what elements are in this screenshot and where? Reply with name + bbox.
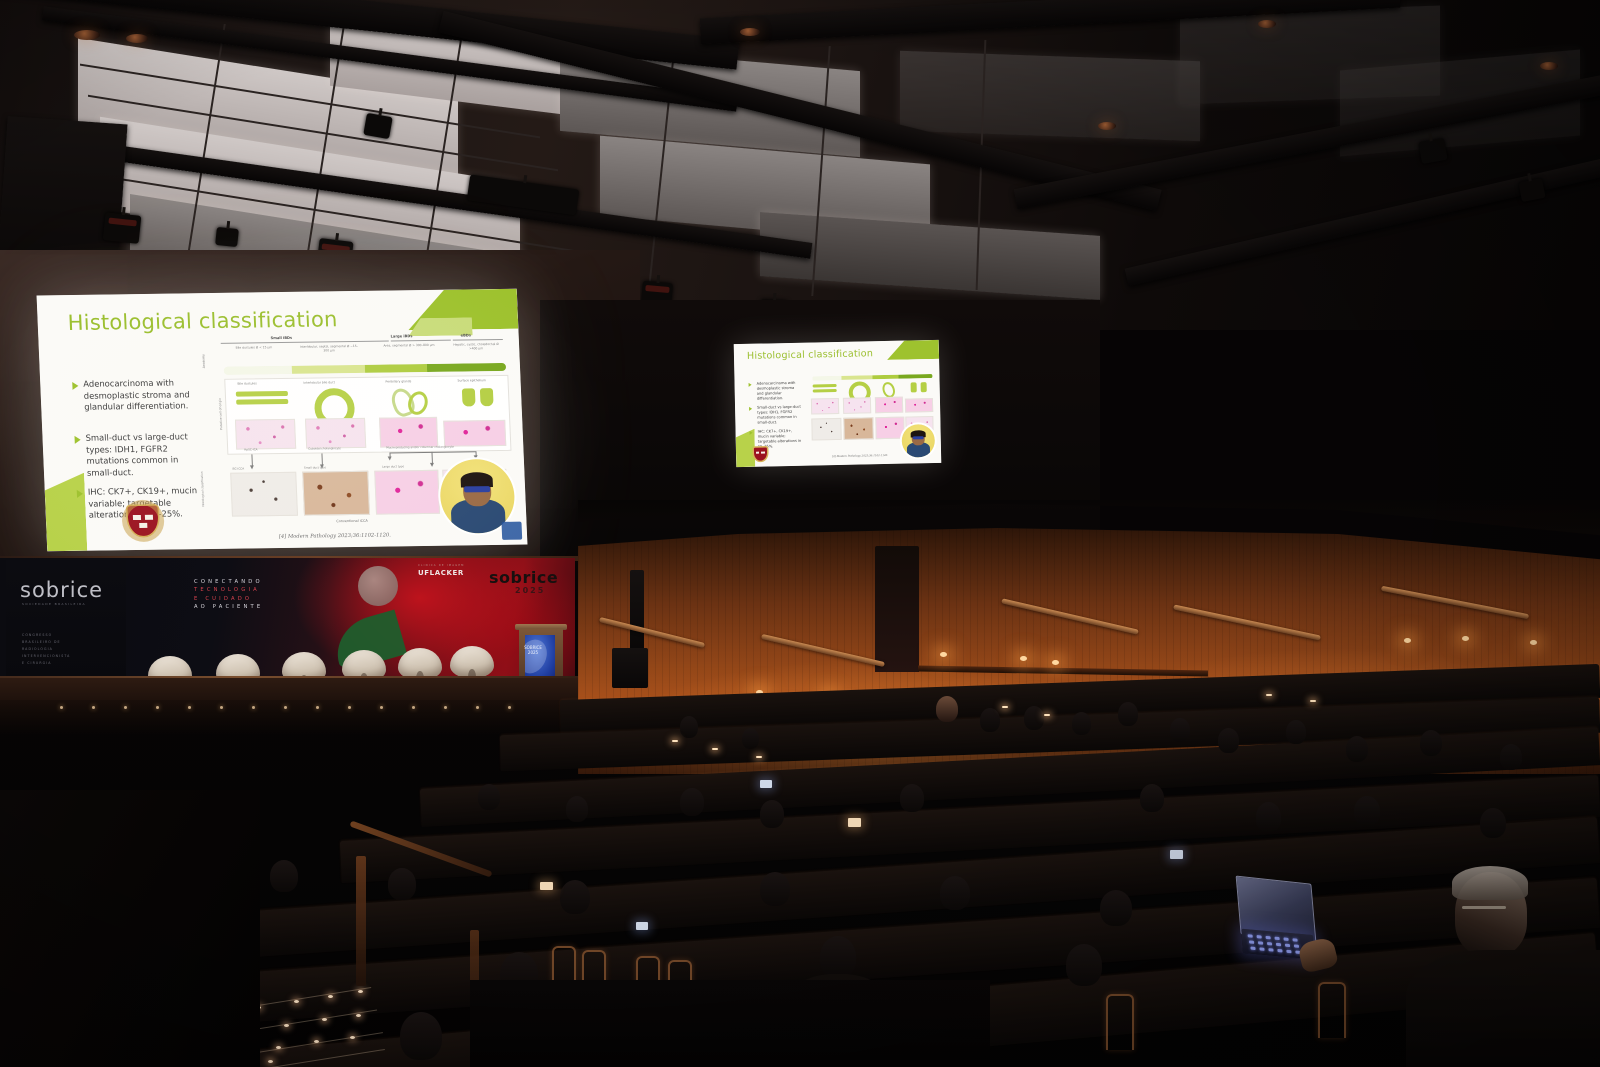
bullet-text: Adenocarcinoma with desmoplastic stroma … [83, 377, 193, 413]
figure-bottom-caption: Conventional iCCA [336, 519, 368, 523]
foreground-seating-silhouette [0, 790, 260, 1067]
audience-member [680, 788, 704, 816]
duct-gradient-bar [224, 366, 292, 375]
slide-title: Histological classification [67, 307, 338, 335]
stair-step-light [356, 1014, 361, 1017]
audience-member [1500, 744, 1522, 770]
audience-member [1140, 784, 1164, 812]
figure-origin-label: Peribiliary glands [385, 379, 411, 383]
classification-caption: iSC-iCCA [232, 467, 244, 471]
wall-speaker [630, 570, 644, 658]
micrograph-caption: Mucin-producing and/or columnar cholangi… [386, 445, 454, 450]
aisle-step-light [672, 740, 678, 742]
micrograph [230, 472, 298, 517]
attendee-phone [540, 882, 553, 890]
bullet-triangle-icon [74, 436, 80, 444]
stage-light-fixture [215, 227, 239, 247]
flow-arrow-icon [475, 451, 476, 456]
surface-epithelium-schematic [462, 388, 476, 406]
slide-bullet: Adenocarcinoma with desmoplastic stroma … [72, 377, 193, 413]
micrograph [374, 470, 440, 515]
audience-member [760, 800, 784, 828]
audience-member [1072, 712, 1091, 735]
bullet-text: Small-duct vs large-duct types: IDH1, FG… [85, 431, 198, 479]
attendee-phone [848, 818, 861, 827]
stage-light-fixture [1418, 138, 1447, 164]
figure-group-label: Small iBDs [270, 336, 292, 340]
banner-circle-graphic [358, 566, 398, 606]
slide-corner-accent [887, 340, 939, 360]
harvard-seal-ring [121, 500, 165, 543]
audience-member [1170, 718, 1190, 742]
slide-bullet: Small-duct vs large-duct types: IDH1, FG… [749, 405, 802, 426]
slide-footer-mark [501, 522, 522, 540]
attendee-phone [1170, 850, 1183, 859]
stair-step-light [294, 1000, 299, 1003]
stage-light-fixture [103, 212, 142, 244]
podium-display [525, 635, 555, 679]
stage-light-fixture [1518, 178, 1545, 202]
auditorium-photo: Histological classification Adenocarcino… [0, 0, 1600, 1067]
wall-speaker [612, 648, 648, 688]
micrograph [235, 419, 296, 450]
micrograph [443, 420, 506, 447]
figure-origin-label: Surface epithelium [457, 378, 486, 382]
stair-step-light [322, 1018, 327, 1021]
tagline-line: TECNOLOGIA [194, 586, 263, 594]
bullet-triangle-icon [72, 382, 78, 390]
wall-sconce-light [1404, 638, 1411, 643]
ceiling-downlight [74, 30, 100, 40]
stage-light-fixture [363, 113, 392, 139]
ceiling-downlight [1258, 20, 1276, 28]
row-handrail [1318, 982, 1346, 1038]
slide-secondary: Histological classification Adenocarcino… [734, 340, 942, 467]
audience-member [1346, 736, 1368, 762]
ceiling-panel [900, 51, 1200, 141]
ceiling-downlight [126, 34, 148, 43]
wall-sconce-light [1052, 660, 1059, 665]
figure-anatomy-cell: Area, segmental Ø > 300–800 µm [383, 344, 435, 349]
ductule-schematic [236, 391, 288, 397]
main-projection-screen: Histological classification Adenocarcino… [37, 289, 528, 551]
audience-member [936, 696, 958, 722]
duct-gradient-bar [812, 376, 841, 381]
stair-step-light [358, 990, 363, 993]
presenter-video-inset [901, 424, 935, 458]
aisle-step-light [1266, 694, 1272, 696]
audience-member [1354, 796, 1380, 826]
ductule-schematic [813, 384, 837, 388]
banner-logo-left: sobrice [20, 578, 103, 602]
stair-step-light [350, 1036, 355, 1039]
audience-member [900, 784, 924, 812]
aisle-step-light [1044, 714, 1050, 716]
exit-doorway [875, 546, 919, 672]
slide-main: Histological classification Adenocarcino… [37, 289, 528, 551]
micrograph-caption: Cuboidal cholangiocyte [308, 446, 341, 450]
tagline-line: E CUIDADO [194, 595, 263, 603]
figure-anatomy-cell: Bile ductules Ø < 15 µm [231, 346, 277, 350]
slide-title-secondary: Histological classification [747, 348, 873, 362]
audience-member [1420, 730, 1442, 756]
audience-member [760, 872, 790, 906]
audience-member [980, 708, 1000, 732]
micrograph [811, 418, 841, 441]
slide-bullet: Adenocarcinoma with desmoplastic stroma … [749, 381, 801, 402]
audience-member [560, 880, 590, 914]
flow-arrow-icon [321, 453, 323, 465]
audience-member [388, 868, 416, 900]
figure-row-label: Anatomy [201, 354, 206, 368]
aisle-step-light [1002, 706, 1008, 708]
shield-book [761, 451, 764, 453]
surface-epithelium-schematic [480, 388, 494, 406]
audience-member [742, 728, 759, 749]
foreground-attendee-glasses [1462, 906, 1506, 909]
flow-arrow-icon [431, 452, 433, 464]
ceiling-downlight [740, 28, 760, 36]
banner-tagline: CONECTANDO TECNOLOGIA E CUIDADO AO PACIE… [194, 578, 263, 612]
wall-sconce-light [1462, 636, 1469, 641]
stair-step-light [284, 1024, 289, 1027]
stair-step-light [314, 1040, 319, 1043]
duct-gradient-bar [291, 365, 365, 374]
stair-step-light [328, 995, 333, 998]
bullet-triangle-icon [749, 407, 752, 411]
audience-member [680, 716, 698, 738]
harvard-shield-logo [754, 447, 767, 460]
stair-step-light [268, 1060, 273, 1063]
classification-caption: Large duct type [382, 464, 404, 468]
aisle-step-light [756, 756, 762, 758]
micrograph [302, 471, 370, 516]
foreground-attendee-torso [1406, 950, 1600, 1067]
micrograph [305, 418, 366, 449]
light-lens [645, 285, 669, 292]
figure-row-label: Histological classification [200, 471, 205, 506]
duct-gradient-bar [872, 375, 898, 380]
sponsor-logo-uflacker: UFLACKER [418, 569, 464, 577]
audience-member [270, 860, 298, 892]
slide-citation: [4] Modern Pathology 2023;36:1102-1120. [279, 532, 391, 540]
wall-sconce-light [940, 652, 947, 657]
slide-citation-secondary: [4] Modern Pathology 2023;36:1102-1120. [832, 454, 888, 458]
figure-row-label: Putative cell of origin [218, 398, 223, 430]
banner-logo-right: sobrice [489, 568, 558, 587]
classification-caption: Small duct type [304, 465, 326, 469]
micrograph [875, 397, 903, 414]
figure-origin-label: Bile ductules [237, 381, 256, 385]
aisle-step-light [712, 748, 718, 750]
bullet-text: Adenocarcinoma with desmoplastic stroma … [757, 381, 801, 402]
audience-member [1480, 808, 1506, 838]
bullet-text: Small-duct vs large-duct types: IDH1, FG… [757, 405, 802, 426]
ceiling-downlight [1098, 122, 1116, 130]
tagline-line: CONECTANDO [194, 578, 263, 586]
audience-member [1286, 720, 1306, 744]
audience-member [1218, 728, 1239, 753]
row-handrail [1106, 994, 1134, 1050]
wall-sconce-light [1020, 656, 1027, 661]
stair-step-light [276, 1046, 281, 1049]
podium-display-label: SOBRICE 2025 [521, 646, 545, 655]
shield-book [756, 452, 759, 454]
audience-member [820, 936, 856, 978]
figure-origin-label: Interlobular bile duct [303, 380, 335, 384]
bullet-triangle-icon [749, 383, 752, 387]
audience-member [478, 784, 500, 810]
duct-gradient-bar [899, 374, 933, 379]
audience-member [1256, 802, 1281, 832]
duct-gradient-bar [427, 363, 506, 372]
micrograph [379, 417, 438, 448]
ductule-schematic [813, 389, 837, 393]
foreground-seating-silhouette [470, 980, 990, 1067]
secondary-projection-screen: Histological classification Adenocarcino… [734, 340, 942, 467]
bullet-triangle-icon [77, 490, 83, 498]
aisle-railing-post [356, 856, 366, 986]
attendee-phone [760, 780, 772, 788]
surface-epithelium-schematic [921, 382, 927, 392]
surface-epithelium-schematic [911, 382, 917, 392]
presenter-glasses [912, 436, 924, 439]
micrograph [875, 417, 904, 440]
audience-member [1024, 706, 1044, 730]
audience-member [1066, 944, 1102, 986]
micrograph [843, 397, 871, 414]
micrograph-caption: HpSC-ICA [244, 447, 257, 451]
duct-gradient-bar [365, 364, 427, 373]
ductule-schematic [236, 399, 288, 405]
banner-left-subtext: SOCIEDADE BRASILEIRA [22, 602, 86, 606]
sponsor-superlabel: CLINICA DE IMAGEM [418, 564, 465, 567]
audience-member [1118, 702, 1138, 726]
aisle-step-light [1310, 700, 1316, 702]
audience-member [940, 876, 970, 910]
figure-origin-panel: Putative cell of origin Bile ductules In… [224, 375, 511, 455]
audience-member [566, 796, 588, 822]
figure-anatomy-cell: Interlobular, septal, segmental Ø ~15–30… [297, 345, 361, 353]
slide-bullet: Small-duct vs large-duct types: IDH1, FG… [74, 431, 198, 479]
tagline-line: AO PACIENTE [194, 603, 263, 611]
duct-gradient-bar [841, 375, 872, 380]
banner-year-right: 2025 [515, 586, 545, 595]
banner-left-subtext: CONGRESSOBRASILEIRO DERADIOLOGIAINTERVEN… [22, 632, 70, 667]
figure-group-label: Large iBDs [391, 334, 413, 338]
flow-arrow-icon [251, 454, 253, 466]
micrograph [905, 398, 933, 413]
presenter-glasses [464, 486, 491, 492]
foreground-attendee-hair [1452, 866, 1528, 900]
audience-member [1100, 890, 1132, 926]
light-lens [108, 218, 137, 227]
attendee-phone [636, 922, 648, 930]
micrograph [811, 398, 839, 415]
figure-group-label: eBDs [461, 333, 471, 337]
figure-anatomy-cell: Hepatic, cystic, choledochal Ø >400 µm [449, 343, 503, 351]
micrograph [843, 417, 873, 440]
wall-sconce-light [1530, 640, 1537, 645]
flow-arrow-icon [389, 452, 390, 457]
ceiling-downlight [1540, 62, 1558, 70]
bullet-triangle-icon [750, 431, 753, 435]
